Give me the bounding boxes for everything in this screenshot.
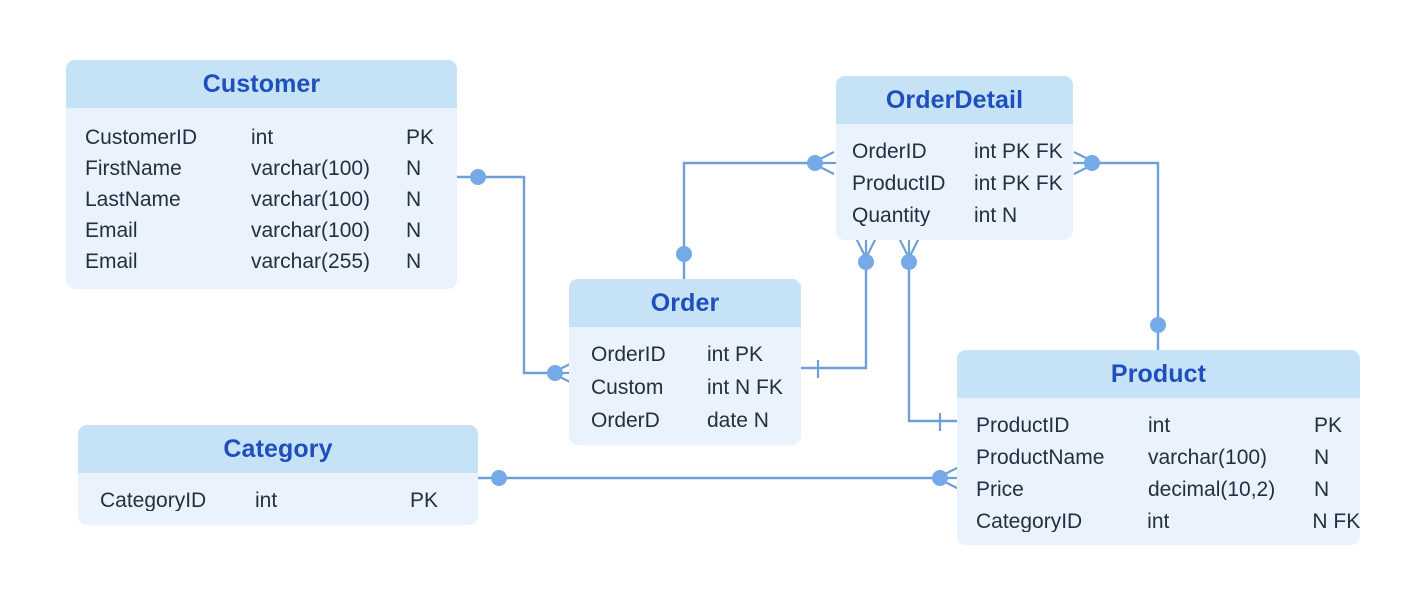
edge-orderdetail-order-fk [801, 234, 877, 378]
attribute-row[interactable]: Email varchar(100) N [66, 215, 457, 246]
edge-orderdetail-product-fk [898, 234, 957, 431]
entity-order-attributes: OrderID int PK Custom int N FK OrderD da… [569, 327, 801, 437]
attribute-name: OrderID [852, 141, 974, 162]
attribute-row[interactable]: ProductID int PK FK [836, 167, 1073, 199]
attribute-name: Price [976, 479, 1148, 500]
attribute-type: int N [974, 205, 1070, 226]
attribute-type: int N FK [707, 377, 797, 398]
attribute-name: LastName [85, 189, 251, 210]
attribute-row[interactable]: CategoryID int PK [78, 485, 478, 515]
attribute-type: varchar(100) [251, 158, 406, 179]
attribute-row[interactable]: LastName varchar(100) N [66, 184, 457, 215]
attribute-name: ProductName [976, 447, 1148, 468]
attribute-name: Email [85, 220, 251, 241]
entity-customer[interactable]: Customer CustomerID int PK FirstName var… [66, 60, 457, 289]
attribute-key: N [406, 189, 421, 210]
entity-order-header: Order [569, 279, 801, 327]
attribute-row[interactable]: Email varchar(255) N [66, 246, 457, 277]
attribute-type: decimal(10,2) [1148, 479, 1314, 500]
attribute-row[interactable]: CustomerID int PK [66, 122, 457, 153]
entity-category-attributes: CategoryID int PK [78, 473, 478, 515]
attribute-type: int PK FK [974, 141, 1070, 162]
attribute-type: int PK FK [974, 173, 1070, 194]
attribute-name: CategoryID [976, 511, 1147, 532]
attribute-key: N FK [1312, 511, 1360, 532]
attribute-row[interactable]: OrderD date N [569, 404, 801, 437]
attribute-row[interactable]: Price decimal(10,2) N [957, 473, 1360, 505]
attribute-row[interactable]: Quantity int N [836, 199, 1073, 231]
entity-category[interactable]: Category CategoryID int PK [78, 425, 478, 525]
entity-category-header: Category [78, 425, 478, 473]
entity-orderdetail[interactable]: OrderDetail OrderID int PK FK ProductID … [836, 76, 1073, 240]
attribute-key: N [406, 158, 421, 179]
entity-orderdetail-attributes: OrderID int PK FK ProductID int PK FK Qu… [836, 124, 1073, 231]
attribute-row[interactable]: ProductID int PK [957, 409, 1360, 441]
attribute-type: varchar(100) [251, 220, 406, 241]
attribute-row[interactable]: FirstName varchar(100) N [66, 153, 457, 184]
attribute-key: N [1314, 447, 1329, 468]
attribute-name: Quantity [852, 205, 974, 226]
entity-order[interactable]: Order OrderID int PK Custom int N FK Ord… [569, 279, 801, 445]
attribute-type: varchar(255) [251, 251, 406, 272]
attribute-type: int [1147, 511, 1312, 532]
entity-orderdetail-header: OrderDetail [836, 76, 1073, 124]
attribute-name: Email [85, 251, 251, 272]
er-diagram-canvas: Customer CustomerID int PK FirstName var… [0, 0, 1425, 600]
attribute-key: PK [1314, 415, 1342, 436]
entity-customer-title: Customer [203, 72, 321, 97]
attribute-row[interactable]: OrderID int PK FK [836, 135, 1073, 167]
attribute-key: PK [406, 127, 434, 148]
attribute-name: OrderD [591, 410, 707, 431]
entity-orderdetail-title: OrderDetail [886, 88, 1023, 113]
attribute-type: int [1148, 415, 1314, 436]
attribute-type: varchar(100) [1148, 447, 1314, 468]
attribute-name: FirstName [85, 158, 251, 179]
attribute-name: ProductID [852, 173, 974, 194]
attribute-key: PK [410, 490, 438, 511]
entity-product-attributes: ProductID int PK ProductName varchar(100… [957, 398, 1360, 537]
edge-orderdetail-product [1072, 152, 1166, 350]
attribute-type: int [255, 490, 410, 511]
entity-customer-attributes: CustomerID int PK FirstName varchar(100)… [66, 108, 457, 277]
attribute-type: int [251, 127, 406, 148]
attribute-row[interactable]: Custom int N FK [569, 371, 801, 404]
attribute-key: N [406, 220, 421, 241]
attribute-name: CategoryID [100, 490, 255, 511]
entity-order-title: Order [651, 291, 720, 316]
edge-category-product [478, 467, 961, 489]
attribute-row[interactable]: ProductName varchar(100) N [957, 441, 1360, 473]
attribute-row[interactable]: OrderID int PK [569, 338, 801, 371]
edge-customer-order [457, 169, 576, 384]
entity-product[interactable]: Product ProductID int PK ProductName var… [957, 350, 1360, 545]
entity-product-title: Product [1111, 362, 1206, 387]
attribute-row[interactable]: CategoryID int N FK [957, 505, 1360, 537]
entity-category-title: Category [223, 437, 332, 462]
attribute-key: N [406, 251, 421, 272]
attribute-name: OrderID [591, 344, 707, 365]
entity-customer-header: Customer [66, 60, 457, 108]
entity-product-header: Product [957, 350, 1360, 398]
attribute-name: Custom [591, 377, 707, 398]
edge-order-orderdetail [676, 152, 836, 279]
attribute-name: ProductID [976, 415, 1148, 436]
attribute-type: int PK [707, 344, 797, 365]
attribute-type: varchar(100) [251, 189, 406, 210]
attribute-key: N [1314, 479, 1329, 500]
attribute-name: CustomerID [85, 127, 251, 148]
attribute-type: date N [707, 410, 797, 431]
